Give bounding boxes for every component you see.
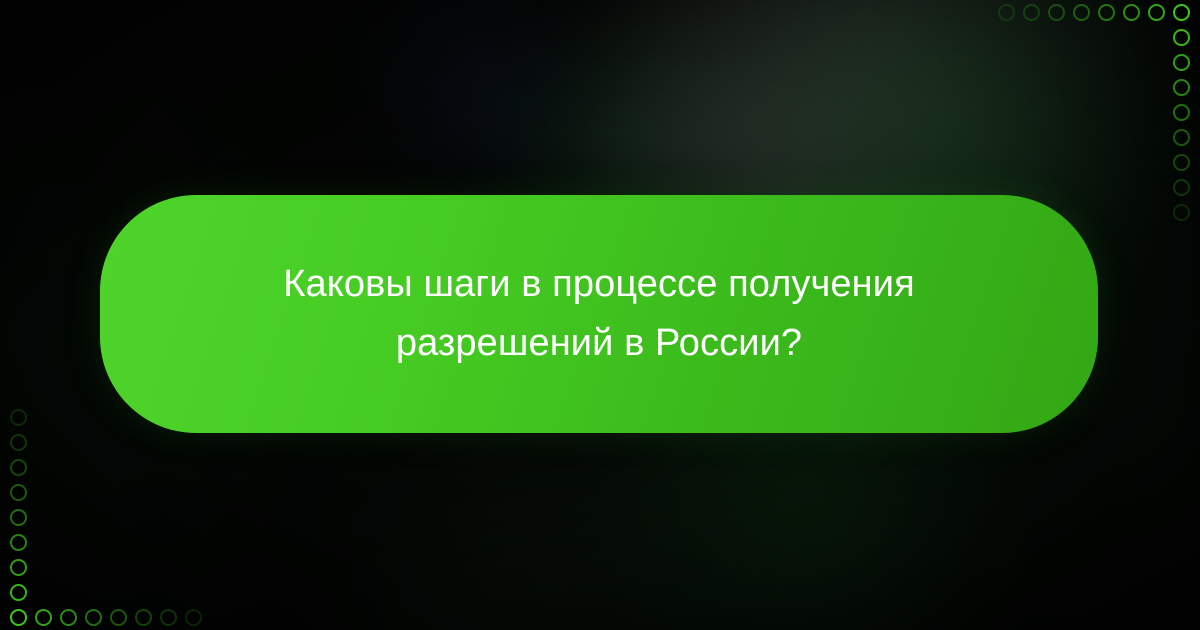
ring-icon [1048,4,1065,21]
ring-icon [1173,179,1190,196]
ring-icon [1148,4,1165,21]
ring-icon [10,534,27,551]
ring-icon [1173,204,1190,221]
ring-icon [10,434,27,451]
ring-icon [1173,54,1190,71]
ring-icon [10,509,27,526]
ring-icon [10,559,27,576]
ring-icon [1173,4,1190,21]
decor-rings-bottom-left-column [10,409,27,601]
ring-icon [1173,129,1190,146]
ring-icon [60,609,77,626]
ring-icon [35,609,52,626]
ring-icon [10,484,27,501]
ring-icon [1073,4,1090,21]
slide-canvas: Каковы шаги в процессе получения разреше… [0,0,1200,630]
decor-rings-bottom-left-row [10,609,202,626]
ring-icon [1173,29,1190,46]
ring-icon [1173,154,1190,171]
question-text: Каковы шаги в процессе получения разреше… [169,255,1029,373]
ring-icon [1173,104,1190,121]
ring-icon [10,609,27,626]
ring-icon [1098,4,1115,21]
ring-icon [1123,4,1140,21]
ring-icon [160,609,177,626]
ring-icon [1023,4,1040,21]
ring-icon [10,459,27,476]
ring-icon [135,609,152,626]
ring-icon [998,4,1015,21]
ring-icon [1173,79,1190,96]
decor-rings-top-right-column [1173,29,1190,221]
ring-icon [110,609,127,626]
ring-icon [10,409,27,426]
question-card: Каковы шаги в процессе получения разреше… [100,195,1098,433]
decor-rings-top-right-row [998,4,1190,21]
ring-icon [85,609,102,626]
ring-icon [185,609,202,626]
ring-icon [10,584,27,601]
